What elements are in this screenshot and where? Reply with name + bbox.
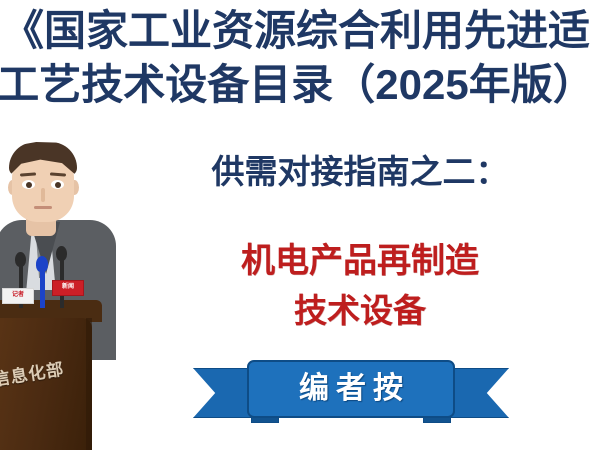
headline-line-1: 机电产品再制造 — [130, 236, 590, 286]
podium-edge — [86, 318, 92, 450]
slide-canvas: 《国家工业资源综合利用先进适 工艺技术设备目录（2025年版） 供需对接指南之二… — [0, 0, 600, 450]
microphone-flag-left: 记者 — [2, 288, 34, 304]
microphone-flag-right: 新闻 — [52, 280, 84, 296]
document-title: 《国家工业资源综合利用先进适 工艺技术设备目录（2025年版） — [0, 4, 600, 112]
mouth — [34, 206, 52, 209]
ribbon-banner: 编者按 — [193, 360, 509, 432]
pupil-left — [26, 182, 32, 188]
headline-line-2: 技术设备 — [130, 286, 590, 336]
subtitle: 供需对接指南之二： — [130, 151, 590, 193]
title-line-2: 工艺技术设备目录（2025年版） — [0, 58, 600, 112]
ribbon-label: 编者按 — [292, 374, 410, 404]
headline: 机电产品再制造 技术设备 — [130, 236, 590, 336]
title-line-1: 《国家工业资源综合利用先进适 — [0, 4, 600, 58]
pupil-right — [55, 182, 61, 188]
microphone-center-stem — [40, 270, 45, 308]
ribbon-panel: 编者按 — [247, 360, 455, 418]
nose — [41, 188, 45, 202]
speaker-illustration: 和信息化部 记者 新闻 — [0, 140, 150, 450]
